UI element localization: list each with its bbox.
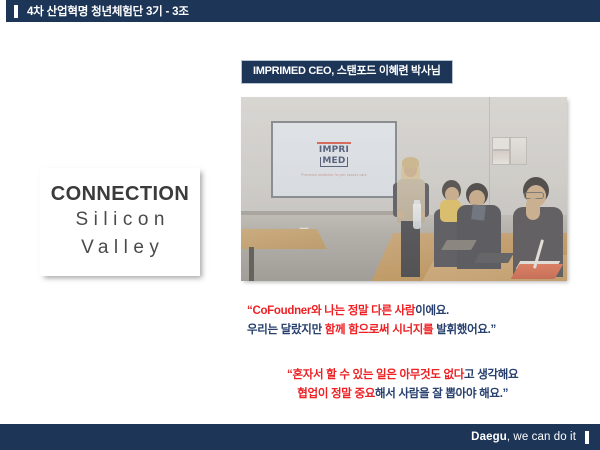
photo-caption-badge: IMPRIMED CEO, 스탠포드 이혜련 박사님 bbox=[241, 60, 453, 84]
water-bottle bbox=[413, 203, 421, 229]
quote-segment: 이에요. bbox=[415, 305, 449, 317]
footer-slogan: Daegu, we can do it bbox=[471, 431, 576, 443]
quote-block-1: “CoFoudner와 나는 정말 다른 사람이에요. 우리는 달랐지만 함께 … bbox=[247, 302, 496, 339]
quote-segment: 우리는 달랐지만 bbox=[247, 324, 325, 336]
side-table bbox=[241, 229, 327, 249]
slide-root: 4차 산업혁명 청년체험단 3기 - 3조 CONNECTION Silicon… bbox=[0, 0, 600, 450]
card-line-silicon: Silicon bbox=[70, 206, 170, 234]
photo-caption-label: IMPRIMED CEO, 스탠포드 이혜련 박사님 bbox=[253, 66, 441, 77]
quote-line: 우리는 달랐지만 함께 함으로써 시너지를 발휘했어요.” bbox=[247, 321, 496, 340]
footer-tagline: , we can do it bbox=[507, 431, 576, 443]
projection-screen: IMPRI MED Precision medicine for pet can… bbox=[271, 121, 397, 198]
notebook bbox=[511, 264, 564, 279]
quote-line: “CoFoudner와 나는 정말 다른 사람이에요. bbox=[247, 302, 496, 321]
footer-brand: Daegu bbox=[471, 431, 507, 443]
quote-segment: “혼자서 할 수 있는 일은 아무것도 없다 bbox=[287, 369, 464, 381]
quote-segment: 해서 사람을 잘 뽑아야 해요.” bbox=[375, 388, 508, 400]
logo-word-med: MED bbox=[320, 157, 347, 167]
header-left-edge bbox=[0, 0, 6, 22]
attendee-hand bbox=[526, 198, 540, 220]
logo-word-impri: IMPRI bbox=[319, 146, 349, 155]
page-title: 4차 산업혁명 청년체험단 3기 - 3조 bbox=[27, 3, 189, 19]
vertical-bar-icon bbox=[14, 5, 18, 18]
side-table-leg bbox=[249, 247, 254, 281]
quote-segment: “CoFoudner와 나는 정말 다른 사람 bbox=[247, 305, 415, 317]
wall-seam bbox=[489, 97, 490, 205]
quote-segment: 함께 함으로써 시너지를 bbox=[325, 324, 434, 336]
quote-line: “혼자서 할 수 있는 일은 아무것도 없다고 생각해요 bbox=[287, 366, 518, 385]
imprimed-logo: IMPRI MED bbox=[315, 142, 353, 167]
presenter-hand-left bbox=[397, 211, 405, 218]
logo-rule bbox=[317, 142, 351, 144]
vertical-bar-icon bbox=[585, 431, 589, 444]
water-bottle-cap bbox=[414, 200, 420, 204]
card-line-valley: Valley bbox=[76, 234, 165, 262]
wall-poster bbox=[492, 137, 510, 150]
footer-bar: Daegu, we can do it bbox=[0, 424, 600, 450]
quote-block-2: “혼자서 할 수 있는 일은 아무것도 없다고 생각해요 협업이 정말 중요해서… bbox=[287, 366, 518, 403]
header-bar: 4차 산업혁명 청년체험단 3기 - 3조 bbox=[0, 0, 600, 22]
presenter-legs bbox=[401, 221, 420, 277]
connection-silicon-valley-card: CONNECTION Silicon Valley bbox=[40, 168, 200, 276]
quote-segment: 협업이 정말 중요 bbox=[297, 388, 375, 400]
logo-tagline: Precision medicine for pet cancer care bbox=[301, 173, 367, 177]
quote-segment: 고 생각해요 bbox=[464, 369, 518, 381]
card-line-connection: CONNECTION bbox=[51, 183, 189, 206]
quote-segment: 발휘했어요.” bbox=[433, 324, 496, 336]
notebook bbox=[474, 253, 514, 263]
quote-line: 협업이 정말 중요해서 사람을 잘 뽑아야 해요.” bbox=[287, 385, 518, 404]
projection-screen-face: IMPRI MED Precision medicine for pet can… bbox=[273, 123, 395, 196]
conference-room-photo: IMPRI MED Precision medicine for pet can… bbox=[241, 97, 567, 281]
wall-poster bbox=[492, 150, 510, 165]
wall-poster bbox=[510, 137, 527, 165]
notebook bbox=[441, 240, 477, 250]
baseboard bbox=[241, 211, 411, 215]
attendee-collar bbox=[471, 204, 485, 220]
presenter-hair-top bbox=[402, 157, 419, 168]
